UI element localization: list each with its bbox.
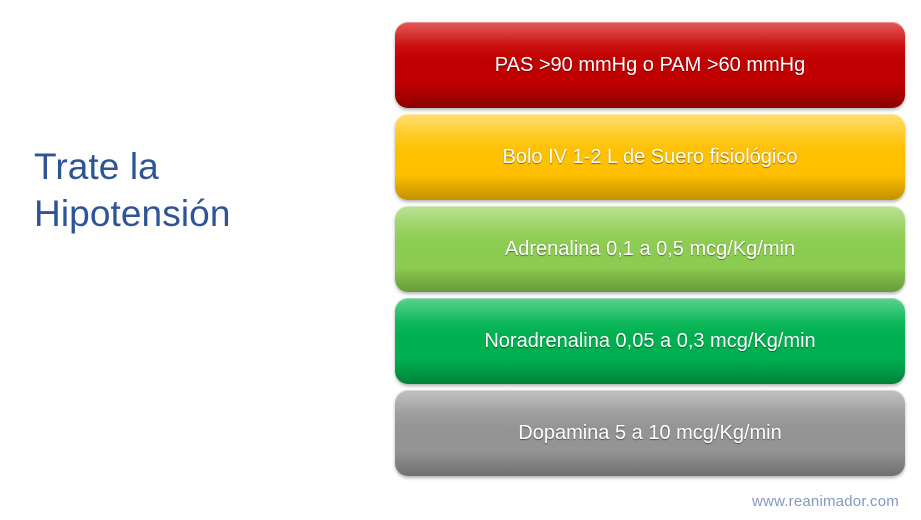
process-step-list: PAS >90 mmHg o PAM >60 mmHg Bolo IV 1-2 … — [395, 22, 905, 478]
process-step-2[interactable]: Bolo IV 1-2 L de Suero fisiológico — [395, 114, 905, 200]
process-step-3[interactable]: Adrenalina 0,1 a 0,5 mcg/Kg/min — [395, 206, 905, 292]
process-step-3-label: Adrenalina 0,1 a 0,5 mcg/Kg/min — [489, 237, 811, 261]
page-title-line-1: Trate la — [34, 143, 364, 190]
page-title-line-2: Hipotensión — [34, 190, 364, 237]
process-step-4-label: Noradrenalina 0,05 a 0,3 mcg/Kg/min — [468, 329, 831, 353]
process-step-1[interactable]: PAS >90 mmHg o PAM >60 mmHg — [395, 22, 905, 108]
process-step-5-label: Dopamina 5 a 10 mcg/Kg/min — [502, 421, 797, 445]
slide-canvas: Trate la Hipotensión PAS >90 mmHg o PAM … — [0, 0, 921, 520]
page-title: Trate la Hipotensión — [34, 143, 364, 237]
footer-website-credit: www.reanimador.com — [752, 492, 899, 512]
process-step-5[interactable]: Dopamina 5 a 10 mcg/Kg/min — [395, 390, 905, 476]
process-step-4[interactable]: Noradrenalina 0,05 a 0,3 mcg/Kg/min — [395, 298, 905, 384]
process-step-1-label: PAS >90 mmHg o PAM >60 mmHg — [479, 53, 821, 77]
process-step-2-label: Bolo IV 1-2 L de Suero fisiológico — [487, 145, 814, 169]
